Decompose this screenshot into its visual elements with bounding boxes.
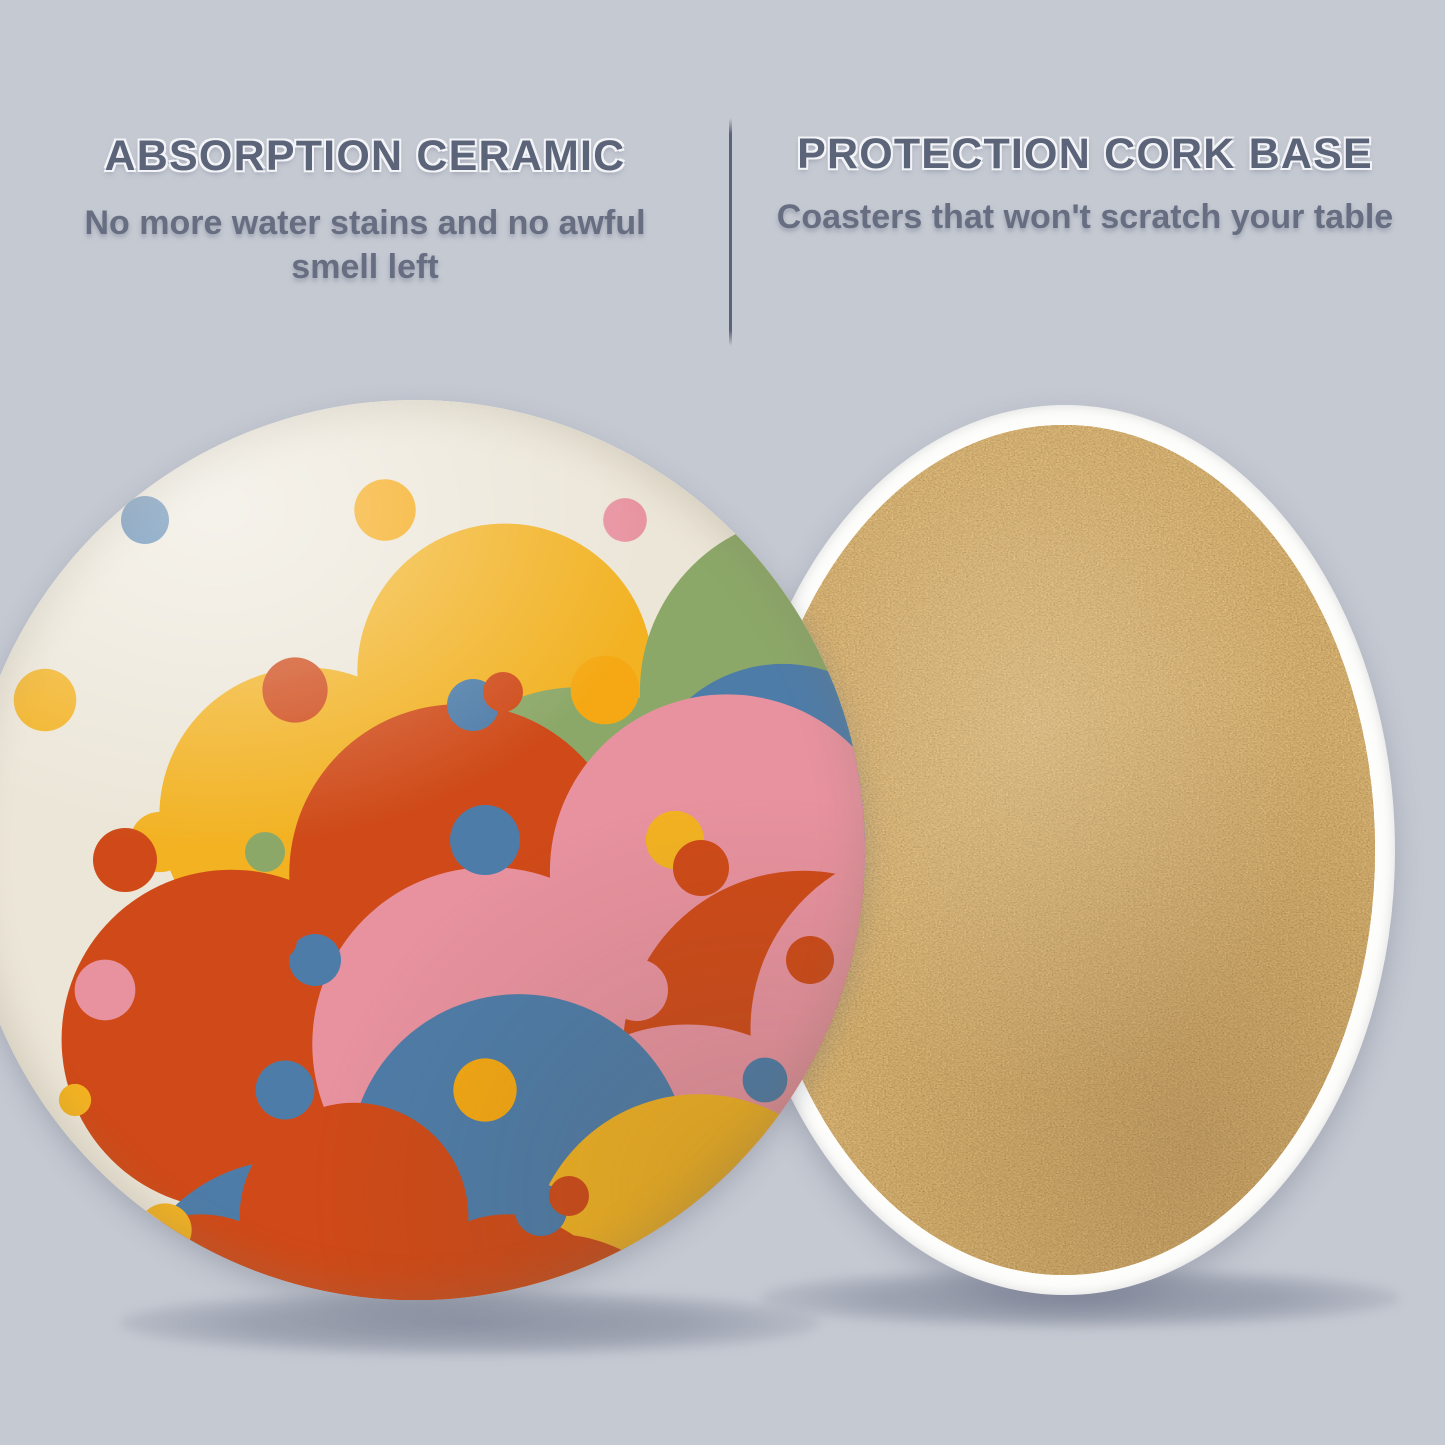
infographic-stage: ABSORPTION CERAMIC No more water stains … xyxy=(0,0,1445,1445)
feature-headline-protection: PROTECTION CORK BASE xyxy=(760,0,1410,180)
feature-headline-absorption: ABSORPTION CERAMIC xyxy=(40,0,690,182)
feature-column-protection: PROTECTION CORK BASE Coasters that won't… xyxy=(760,0,1410,240)
floral-pattern xyxy=(0,400,865,1300)
feature-subline-protection: Coasters that won't scratch your table xyxy=(760,180,1410,240)
ceramic-coaster-floral xyxy=(0,400,865,1300)
column-divider xyxy=(729,118,732,346)
feature-subline-absorption: No more water stains and no awful smell … xyxy=(40,182,690,289)
header-section: ABSORPTION CERAMIC No more water stains … xyxy=(0,0,1445,380)
feature-column-absorption: ABSORPTION CERAMIC No more water stains … xyxy=(40,0,690,289)
